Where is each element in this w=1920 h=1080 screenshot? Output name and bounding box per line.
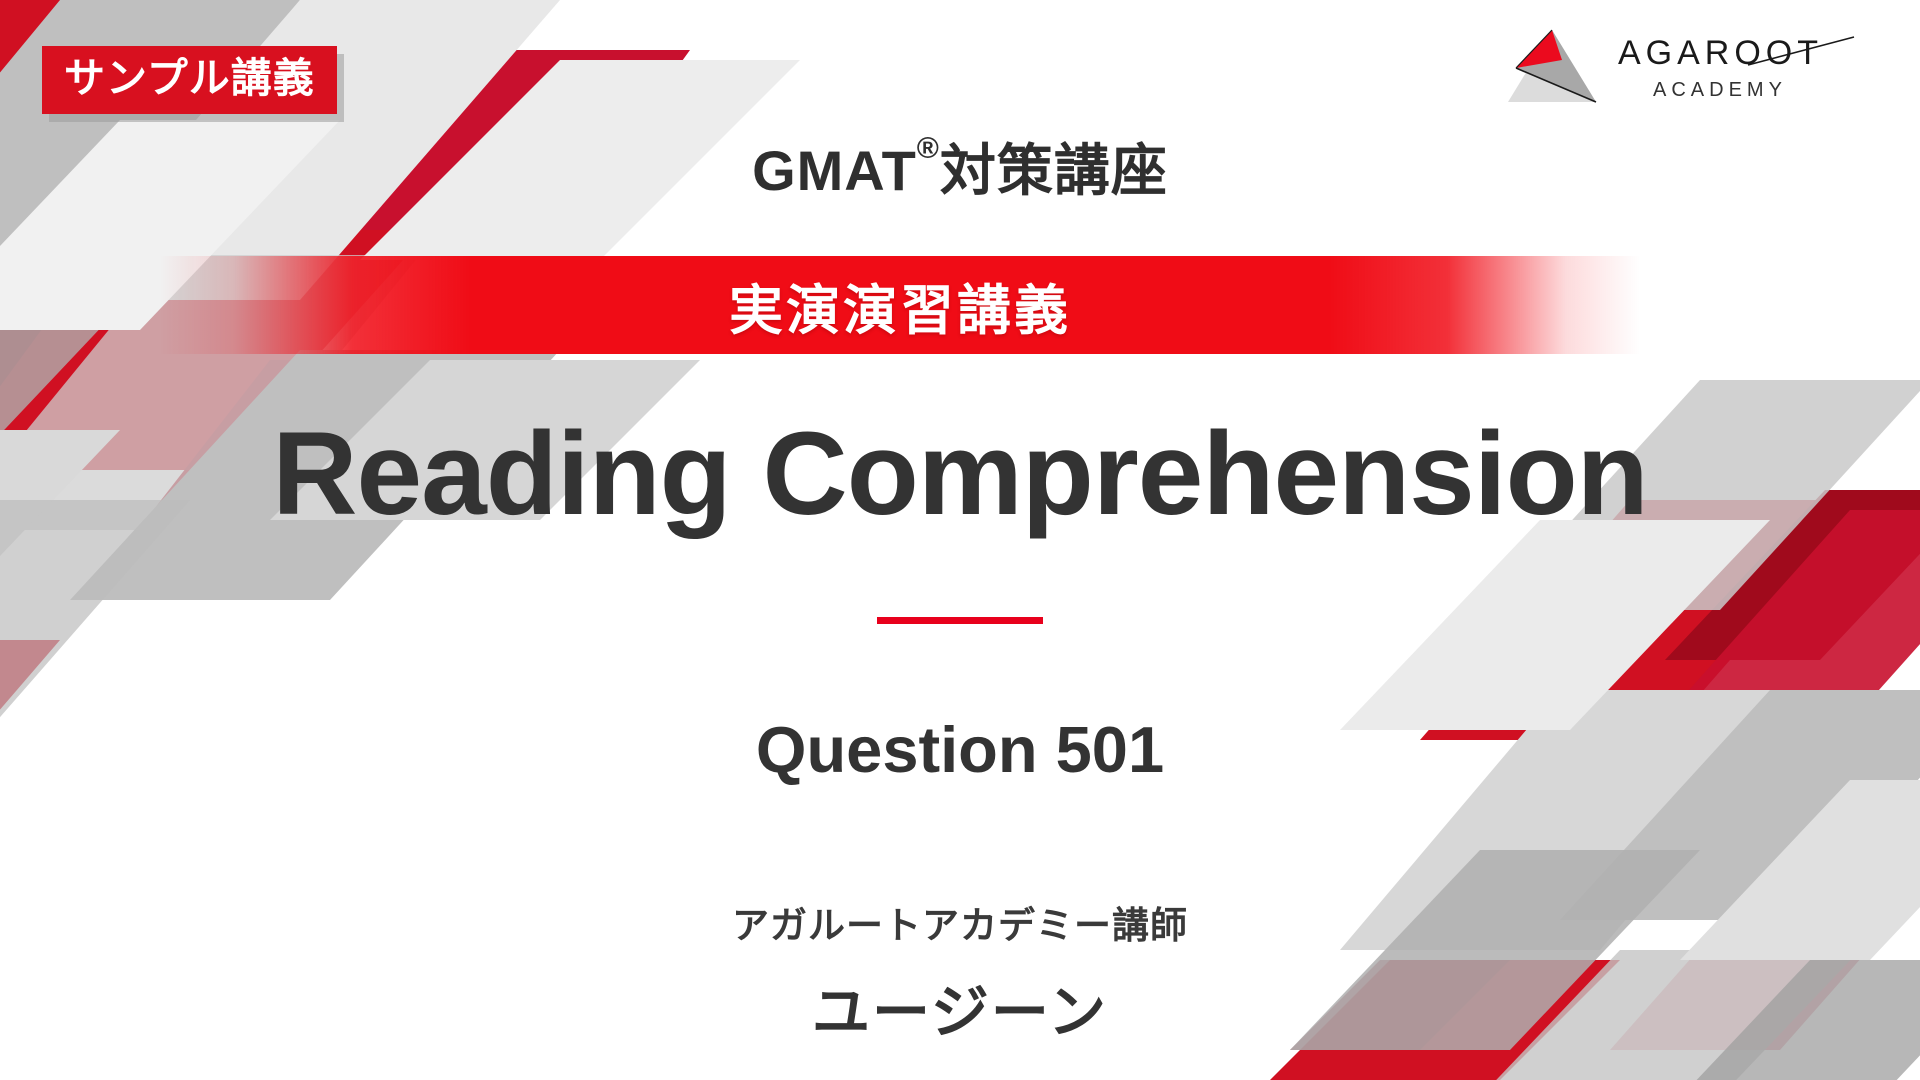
logo-brand-wordmark: AGAROOT — [1618, 32, 1868, 76]
course-title: GMAT®対策講座 — [0, 126, 1920, 207]
agaroot-triangle-mark — [1506, 28, 1598, 106]
lecture-type-label: 実演演習講義 — [729, 266, 1071, 345]
logo-sub-brand-text: ACADEMY — [1643, 76, 1843, 102]
section-divider — [877, 617, 1043, 624]
page-title: Reading Comprehension — [0, 415, 1920, 533]
registered-trademark-symbol: ® — [917, 132, 940, 165]
presenter-name: ユージーン — [0, 965, 1920, 1049]
slide-root: サンプル講義 AGAROOT ACADEMY GMAT®対策講座 — [0, 0, 1920, 1080]
svg-text:ACADEMY: ACADEMY — [1653, 79, 1787, 101]
course-title-suffix: 対策講座 — [940, 139, 1168, 202]
question-number: Question 501 — [0, 712, 1920, 787]
badge-label: サンプル講義 — [42, 46, 337, 114]
presenter-role: アガルートアカデミー講師 — [0, 895, 1920, 949]
presenter-block: アガルートアカデミー講師 ユージーン — [0, 895, 1920, 1049]
agaroot-academy-logo: AGAROOT ACADEMY — [1506, 28, 1868, 106]
course-title-main: GMAT — [752, 139, 917, 202]
logo-brand-text: AGAROOT — [1618, 32, 1868, 76]
sample-lecture-badge: サンプル講義 — [42, 46, 337, 114]
lecture-type-banner: 実演演習講義 — [160, 256, 1640, 354]
